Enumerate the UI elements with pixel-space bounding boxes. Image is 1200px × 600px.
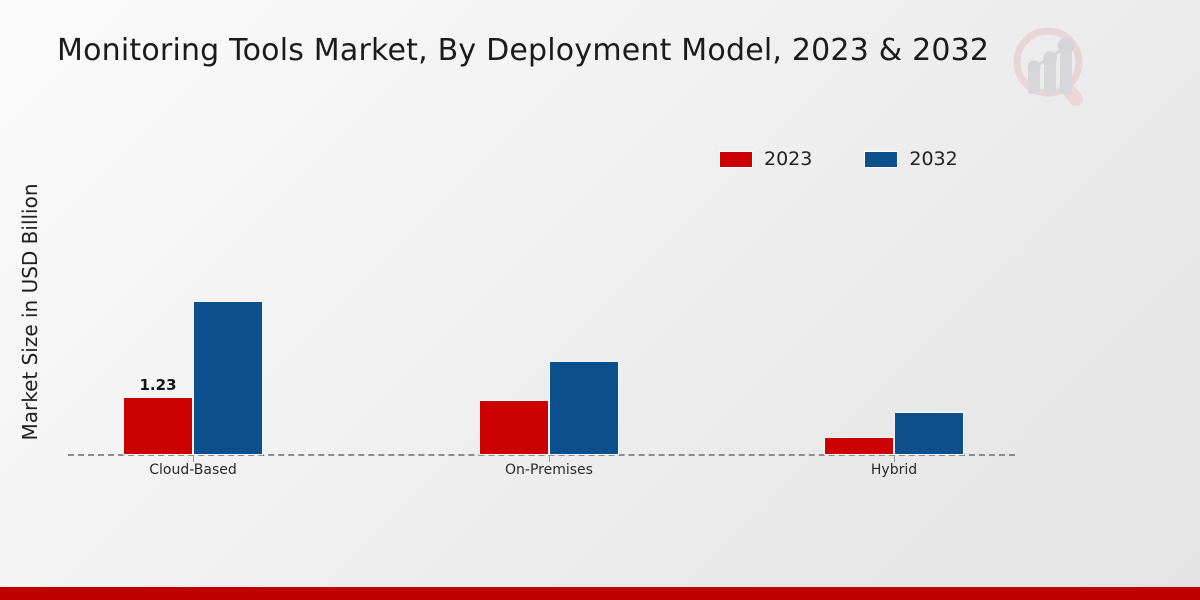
footer-accent-bar — [0, 587, 1200, 600]
bar-on-premises-2023[interactable] — [479, 400, 549, 455]
y-axis-label: Market Size in USD Billion — [18, 142, 42, 482]
x-tick-on-premises — [549, 455, 550, 462]
market-research-magnifier-logo-icon — [1006, 22, 1102, 114]
plot-area: 1.23 Cloud-Based On-Premises — [68, 170, 1015, 456]
bar-value-cloud-based-2023: 1.23 — [139, 376, 176, 394]
bar-hybrid-2023[interactable] — [824, 437, 894, 455]
page-title: Monitoring Tools Market, By Deployment M… — [57, 33, 989, 68]
legend-item-2032[interactable]: 2032 — [864, 148, 957, 170]
x-axis-category-on-premises: On-Premises — [505, 462, 593, 478]
legend-swatch-2032 — [864, 151, 898, 168]
legend-label-2032: 2032 — [909, 148, 957, 170]
x-tick-cloud-based — [193, 455, 194, 462]
x-axis-category-hybrid: Hybrid — [871, 462, 917, 478]
legend-swatch-2023 — [719, 151, 753, 168]
bar-cloud-based-2023[interactable]: 1.23 — [123, 397, 193, 455]
x-tick-hybrid — [894, 455, 895, 462]
legend-label-2023: 2023 — [764, 148, 812, 170]
bar-on-premises-2032[interactable] — [549, 361, 619, 455]
x-axis-category-cloud-based: Cloud-Based — [149, 462, 237, 478]
legend-item-2023[interactable]: 2023 — [719, 148, 812, 170]
bar-cloud-based-2032[interactable] — [193, 301, 263, 455]
bar-hybrid-2032[interactable] — [894, 412, 964, 455]
chart-canvas: Monitoring Tools Market, By Deployment M… — [0, 0, 1200, 600]
legend: 2023 2032 — [719, 148, 958, 170]
